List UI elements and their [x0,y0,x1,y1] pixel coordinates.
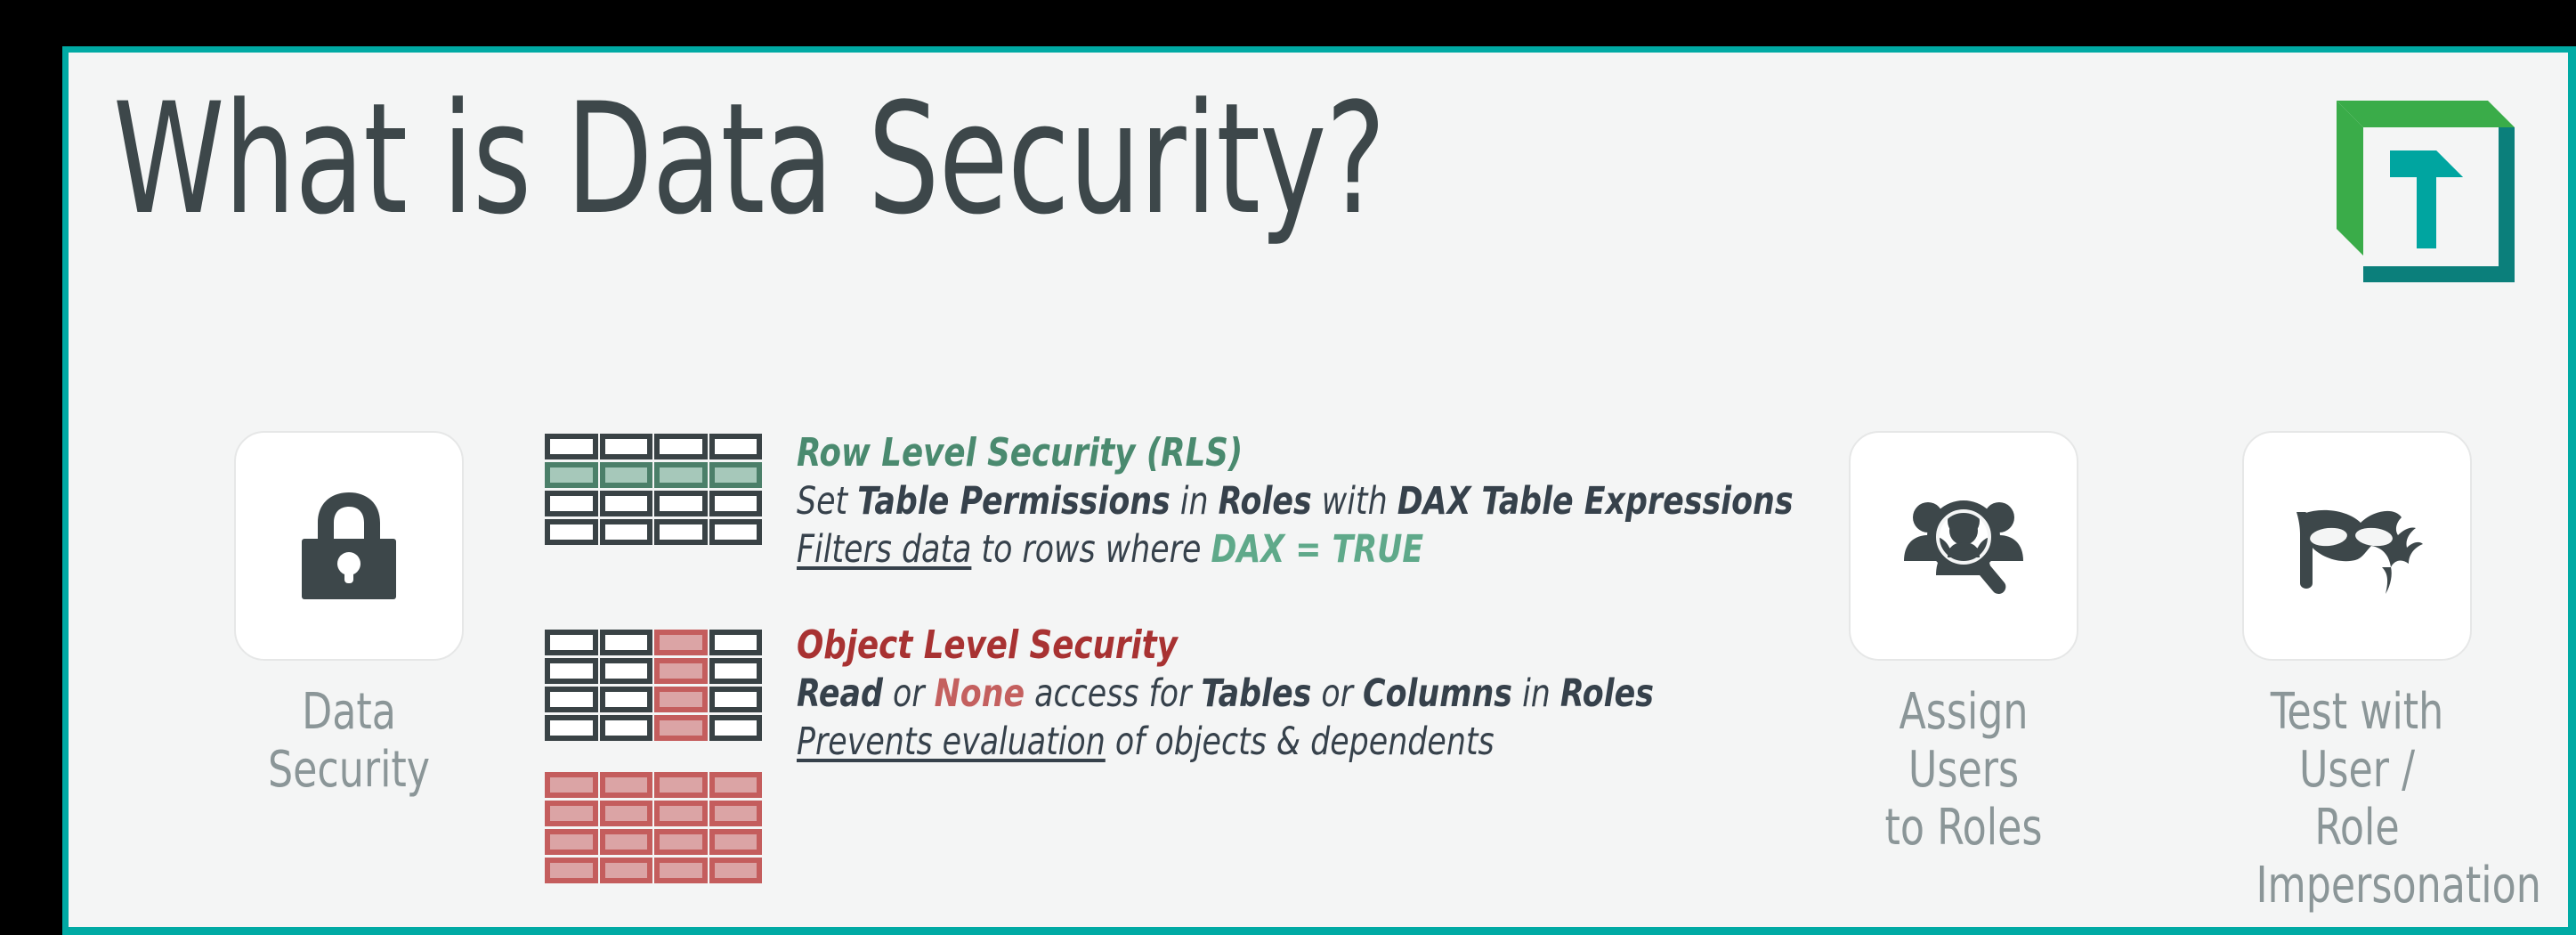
grid-cell-highlighted [654,462,708,488]
pillar-data-security[interactable]: Data Security [234,431,464,800]
grid-cell [654,434,708,459]
grid-cell-highlighted [654,801,708,826]
masquerade-mask-icon [2289,487,2425,605]
slide-content: What is Data Security? [69,53,2568,927]
grid-cell [600,687,653,712]
grid-cell [545,687,598,712]
rls-l1-s1: Table Permissions [857,479,1171,524]
slide-frame: What is Data Security? [62,46,2576,935]
grid-cell [654,519,708,545]
grid-cell-highlighted [545,772,598,798]
grid-cell [709,687,763,712]
rls-l1-s2: in [1171,479,1219,524]
grid-cell [545,491,598,516]
grid-cell-highlighted [709,858,763,883]
grid-cell-highlighted [654,687,708,712]
grid-cell-highlighted [545,858,598,883]
grid-cell-highlighted [654,715,708,741]
grid-cell [600,658,653,684]
pillar-label: Test with User / Role Impersonation [2256,684,2458,915]
ols-l1-s7: in [1512,671,1560,716]
grid-cell [545,434,598,459]
grid-cell [709,434,763,459]
grid-cell-highlighted [654,658,708,684]
pillar-test-with-impersonation[interactable]: Test with User / Role Impersonation [2242,431,2472,915]
grid-cell [600,630,653,655]
grid-cell [600,715,653,741]
ols-l1-s4: Tables [1201,671,1311,716]
rls-l1-s4: with [1312,479,1397,524]
rls-heading: Row Level Security (RLS) [797,430,1794,476]
grid-cell [600,434,653,459]
row-level-security-block: Row Level Security (RLS) Set Table Permi… [797,430,1794,572]
pillar-card[interactable] [234,431,464,661]
rls-l2-s1: to rows where [971,527,1211,572]
grid-cell-highlighted [654,630,708,655]
grid-cell [545,630,598,655]
grid-cell [709,491,763,516]
pillar-label: Assign Users to Roles [1862,684,2064,858]
grid-cell-highlighted [545,462,598,488]
ols-l1-s0: Read [797,671,883,716]
ols-l1-s3: access for [1025,671,1201,716]
ols-heading: Object Level Security [797,622,1654,669]
ols-line-1: Read or None access for Tables or Column… [797,671,1654,717]
grid-cell [709,658,763,684]
grid-cell [545,658,598,684]
table-grid-ols [545,630,762,741]
ols-l1-s1: or [883,671,935,716]
pillar-card[interactable] [2242,431,2472,661]
rls-l1-s5: DAX Table Expressions [1397,479,1794,524]
padlock-icon [296,487,401,605]
rls-l2-s0: Filters data [797,527,971,572]
grid-cell-highlighted [709,462,763,488]
table-grid-rls [545,434,762,545]
grid-cell-highlighted [600,829,653,855]
cube-t-logo [2329,81,2534,286]
grid-cell [709,630,763,655]
grid-cell-highlighted [709,801,763,826]
rls-line-1: Set Table Permissions in Roles with DAX … [797,479,1794,524]
grid-cell-highlighted [600,858,653,883]
page-title: What is Data Security? [113,79,1385,240]
grid-cell [600,491,653,516]
grid-cell-highlighted [654,772,708,798]
ols-l2-s0: Prevents evaluation [797,720,1106,764]
grid-cell-highlighted [600,462,653,488]
grid-cell-highlighted [545,801,598,826]
pillar-card[interactable] [1849,431,2078,661]
grid-cell [709,519,763,545]
grid-cell-highlighted [654,858,708,883]
ols-l1-s8: Roles [1560,671,1654,716]
rls-l1-s0: Set [797,479,857,524]
rls-l1-s3: Roles [1219,479,1312,524]
users-search-icon [1900,497,2027,595]
grid-cell [545,519,598,545]
grid-cell [545,715,598,741]
rls-l2-s2: DAX = TRUE [1211,527,1423,572]
rls-line-2: Filters data to rows where DAX = TRUE [797,527,1794,573]
grid-cell-highlighted [709,772,763,798]
ols-line-2: Prevents evaluation of objects & depende… [797,720,1654,765]
pillar-assign-users-to-roles[interactable]: Assign Users to Roles [1849,431,2078,858]
object-level-security-block: Object Level Security Read or None acces… [797,622,1654,764]
ols-l2-s1: of objects & dependents [1106,720,1495,764]
ols-l1-s2: None [935,671,1025,716]
grid-cell-highlighted [545,829,598,855]
grid-cell-highlighted [654,829,708,855]
grid-cell-highlighted [600,801,653,826]
ols-l1-s5: or [1311,671,1363,716]
grid-cell-highlighted [709,829,763,855]
pillar-label: Data Security [247,684,450,800]
grid-cell [709,715,763,741]
grid-cell-highlighted [600,772,653,798]
grid-cell [654,491,708,516]
table-grid-all-blocked [545,772,762,883]
ols-l1-s6: Columns [1363,671,1512,716]
grid-cell [600,519,653,545]
